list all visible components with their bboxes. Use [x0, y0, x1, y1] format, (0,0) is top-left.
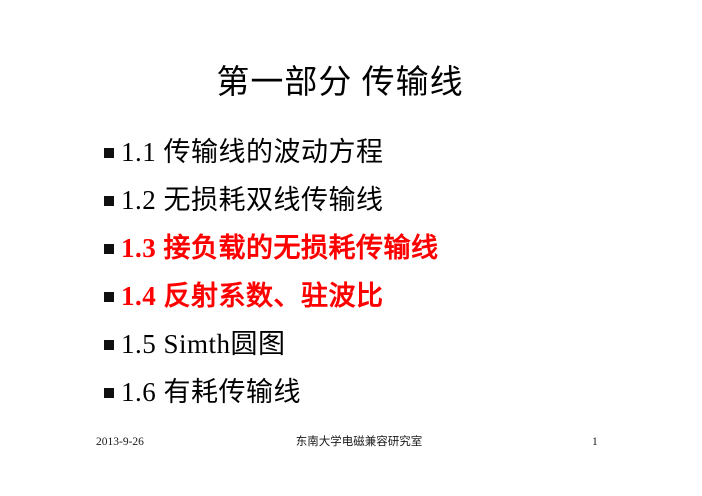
square-bullet-icon [104, 292, 114, 302]
square-bullet-icon [104, 244, 114, 254]
square-bullet-icon [104, 196, 114, 206]
footer-page-number: 1 [592, 432, 598, 452]
page-title: 第一部分 传输线 [0, 62, 680, 104]
list-item-label: 1.1 传输线的波动方程 [121, 136, 384, 168]
list-item[interactable]: 1.1 传输线的波动方程 [104, 128, 664, 176]
list-item-label: 1.2 无损耗双线传输线 [121, 184, 384, 216]
list-item[interactable]: 1.6 有耗传输线 [104, 368, 664, 416]
list-item-label: 1.5 Simth圆图 [121, 328, 286, 360]
list-item-label: 1.4 反射系数、驻波比 [121, 280, 384, 312]
slide-footer: 2013-9-26 东南大学电磁兼容研究室 1 [0, 432, 702, 452]
list-item[interactable]: 1.5 Simth圆图 [104, 320, 664, 368]
square-bullet-icon [104, 340, 114, 350]
list-item[interactable]: 1.3 接负载的无损耗传输线 [104, 224, 664, 272]
list-item[interactable]: 1.2 无损耗双线传输线 [104, 176, 664, 224]
list-item-label: 1.3 接负载的无损耗传输线 [121, 232, 439, 264]
list-item-label: 1.6 有耗传输线 [121, 376, 301, 408]
square-bullet-icon [104, 148, 114, 158]
square-bullet-icon [104, 388, 114, 398]
outline-list: 1.1 传输线的波动方程 1.2 无损耗双线传输线 1.3 接负载的无损耗传输线… [104, 128, 664, 416]
presentation-slide: 第一部分 传输线 1.1 传输线的波动方程 1.2 无损耗双线传输线 1.3 接… [0, 0, 702, 496]
list-item[interactable]: 1.4 反射系数、驻波比 [104, 272, 664, 320]
